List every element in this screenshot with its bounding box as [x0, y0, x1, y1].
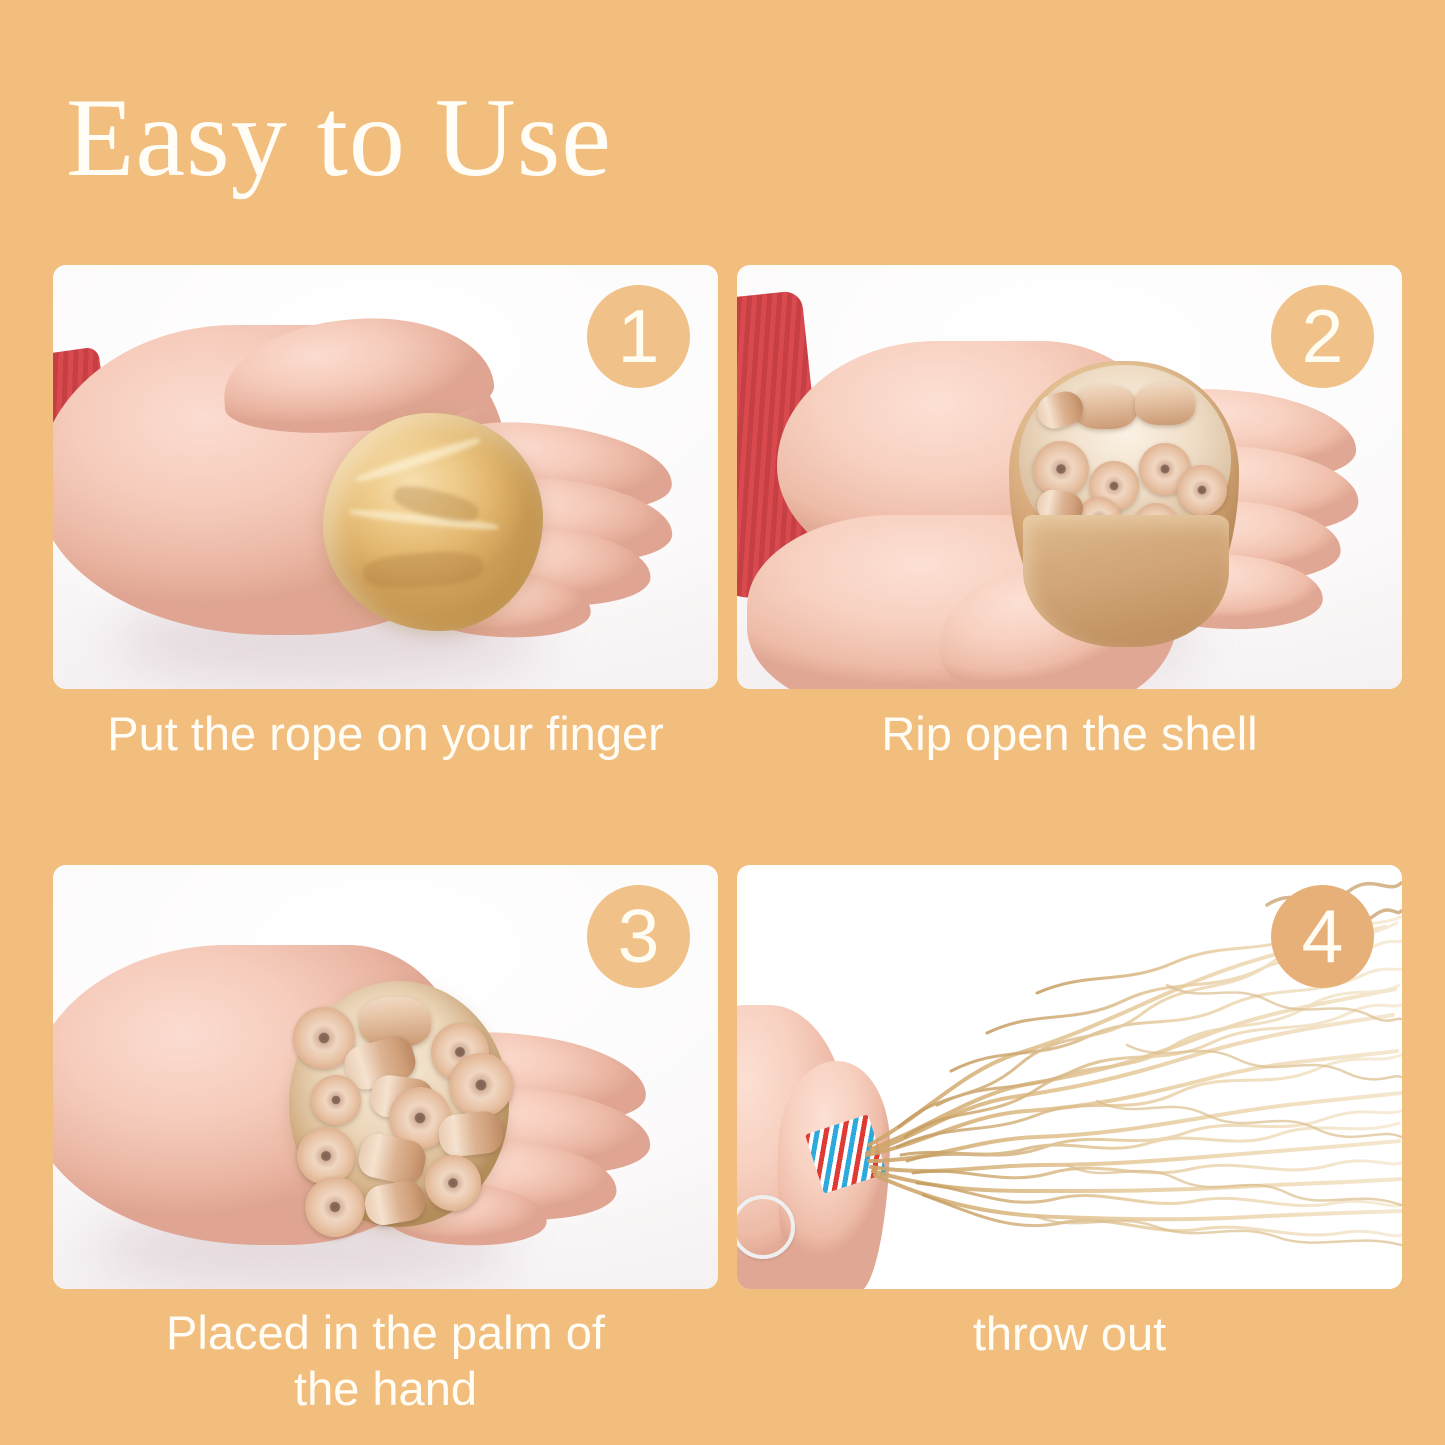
step-1-photo: 1: [53, 265, 718, 689]
step-card-4: 4 throw out: [737, 865, 1402, 1289]
step-number-badge-3: 3: [587, 885, 690, 988]
step-number-badge-4: 4: [1271, 885, 1374, 988]
coil: [305, 1177, 365, 1237]
step-card-2: 2 Rip open the shell: [737, 265, 1402, 689]
coil: [1135, 383, 1195, 425]
coil: [1033, 441, 1089, 497]
coil: [449, 1053, 513, 1117]
step-4-caption: throw out: [737, 1305, 1402, 1363]
coil: [1177, 465, 1227, 515]
step-2-caption: Rip open the shell: [737, 705, 1402, 763]
step-2-photo: 2: [737, 265, 1402, 689]
step-3-photo: 3: [53, 865, 718, 1289]
step-card-3: 3 Placed in the palm of the hand: [53, 865, 718, 1289]
step-number-badge-2: 2: [1271, 285, 1374, 388]
coil: [425, 1155, 481, 1211]
step-card-1: 1 Put the rope on your finger: [53, 265, 718, 689]
step-3-caption: Placed in the palm of the hand: [53, 1305, 718, 1417]
page-title: Easy to Use: [66, 74, 966, 204]
coil: [311, 1075, 361, 1125]
coil: [297, 1127, 355, 1185]
step-4-photo: 4: [737, 865, 1402, 1289]
product-infographic: Easy to Use 1 Put the rope o: [0, 0, 1445, 1445]
step-number-badge-1: 1: [587, 285, 690, 388]
step-1-caption: Put the rope on your finger: [53, 705, 718, 763]
